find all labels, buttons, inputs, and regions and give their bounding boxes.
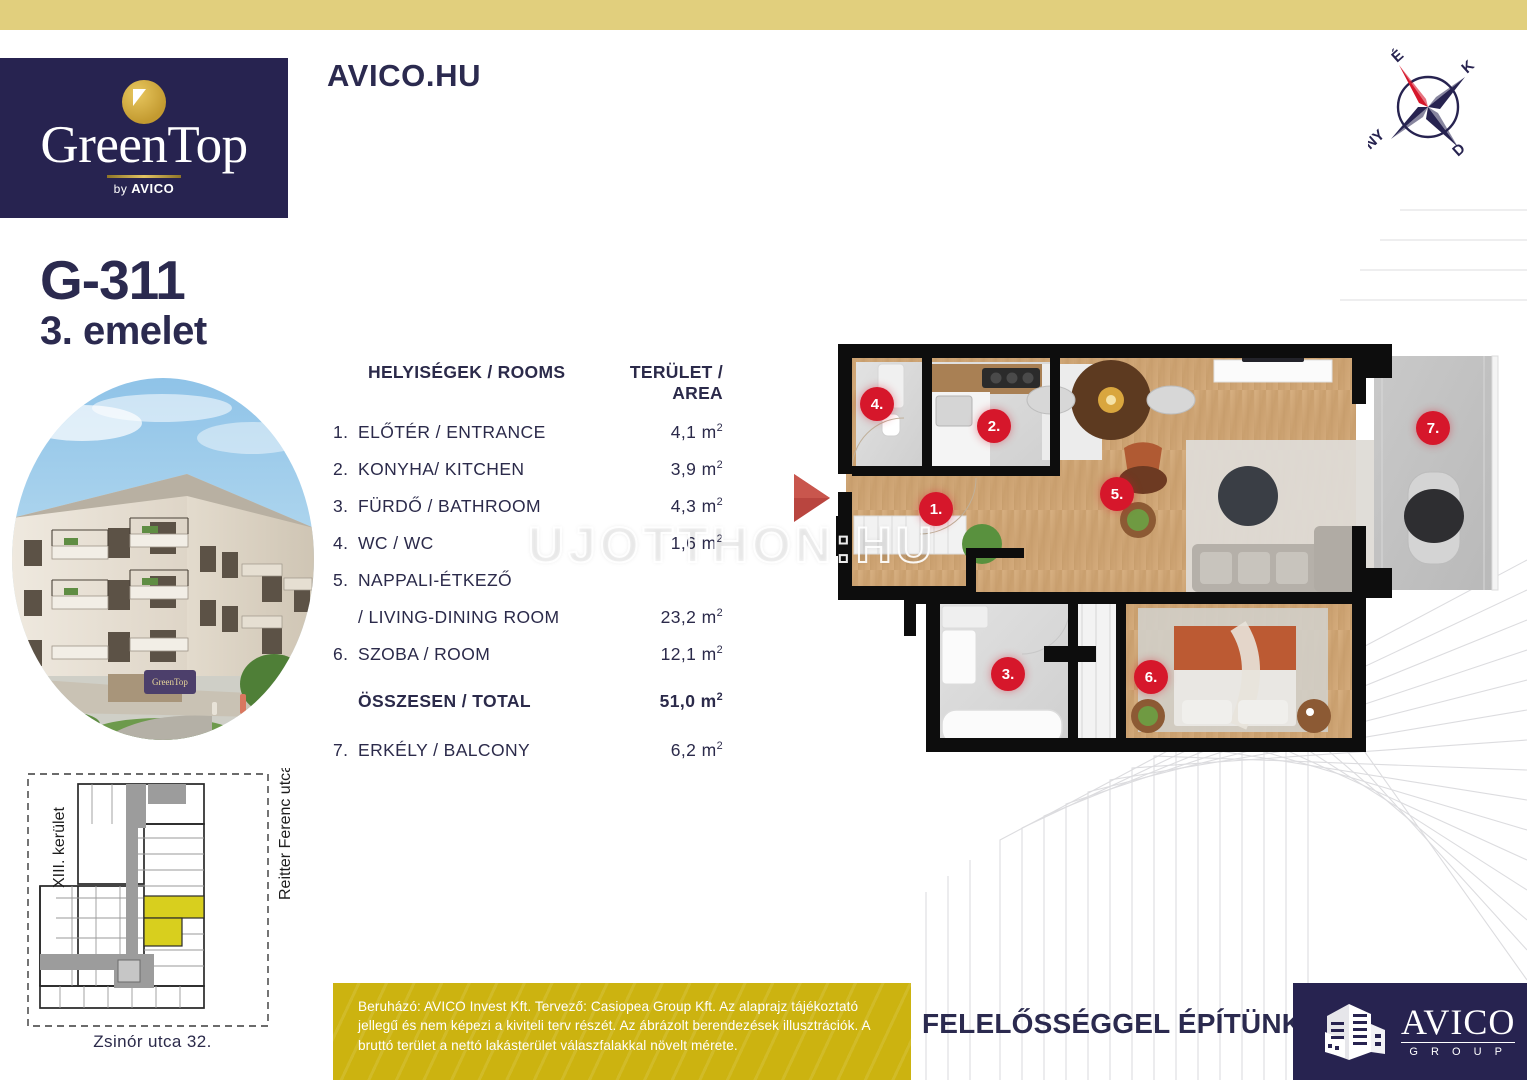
room-name: ELŐTÉR / ENTRANCE [358, 422, 598, 443]
keyplan-label-street-right: Reitter Ferenc utca [277, 768, 294, 900]
room-number: 1. [333, 422, 358, 443]
room-rows-container: 1.ELŐTÉR / ENTRANCE4,1 m22.KONYHA/ KITCH… [333, 422, 723, 665]
room-area: 23,2 m2 [598, 607, 723, 628]
greentop-logo-block: GreenTop by AVICO [0, 58, 288, 218]
table-row: 4.WC / WC1,6 m2 [333, 533, 723, 554]
entrance-direction-arrow [790, 470, 834, 526]
building-icon [1315, 1002, 1389, 1062]
svg-text:GreenTop: GreenTop [152, 677, 188, 687]
balcony-area: 6,2 m2 [598, 740, 723, 761]
unit-title: G-311 3. emelet [40, 253, 207, 354]
disclaimer-band: Beruházó: AVICO Invest Kft. Tervező: Cas… [333, 983, 911, 1080]
column-header-area: TERÜLET / AREA [598, 362, 723, 404]
room-marker-2: 2. [977, 409, 1011, 443]
compass-label-north: É [1388, 47, 1407, 66]
logo-byline: by AVICO [114, 181, 175, 196]
table-row: 6.SZOBA / ROOM12,1 m2 [333, 644, 723, 665]
room-marker-7: 7. [1416, 411, 1450, 445]
room-name: FÜRDŐ / BATHROOM [358, 496, 598, 517]
room-number: 4. [333, 533, 358, 554]
room-name: NAPPALI-ÉTKEZŐ [358, 570, 598, 591]
room-marker-4: 4. [860, 387, 894, 421]
compass-label-west: NY [1368, 126, 1388, 153]
compass-rose-icon: É K D NY [1368, 47, 1488, 162]
keyplan-label-district: XIII. kerület [51, 807, 68, 888]
unit-floor: 3. emelet [40, 308, 207, 354]
room-marker-6: 6. [1134, 660, 1168, 694]
balcony-number: 7. [333, 740, 358, 761]
site-key-plan: XIII. kerület Reitter Ferenc utca [20, 768, 308, 1058]
disclaimer-text: Beruházó: AVICO Invest Kft. Tervező: Cas… [333, 983, 911, 1055]
top-accent-bar [0, 0, 1527, 30]
table-row: 2.KONYHA/ KITCHEN3,9 m2 [333, 459, 723, 480]
avico-name: AVICO [1401, 1005, 1515, 1039]
room-schedule-table: HELYISÉGEK / ROOMS TERÜLET / AREA 1.ELŐT… [333, 362, 723, 777]
room-area: 4,1 m2 [598, 422, 723, 443]
company-slogan: FELELŐSSÉGGEL ÉPÍTÜNK [922, 1008, 1302, 1040]
avico-divider [1401, 1042, 1515, 1043]
total-area: 51,0 m2 [598, 691, 723, 712]
greentop-logo-icon [122, 80, 166, 124]
room-number: 5. [333, 570, 358, 591]
logo-divider [107, 175, 181, 178]
compass-label-east: K [1458, 57, 1478, 77]
room-area: 12,1 m2 [598, 644, 723, 665]
room-name: WC / WC [358, 533, 598, 554]
balcony-name: ERKÉLY / BALCONY [358, 740, 598, 761]
greentop-wordmark: GreenTop [40, 118, 247, 174]
room-name: SZOBA / ROOM [358, 644, 598, 665]
logo-company-text: AVICO [131, 181, 174, 196]
room-marker-5: 5. [1100, 477, 1134, 511]
room-number: 3. [333, 496, 358, 517]
room-number: 6. [333, 644, 358, 665]
building-render-photo: GreenTop [12, 378, 314, 740]
room-name: KONYHA/ KITCHEN [358, 459, 598, 480]
floorplan-drawing: 1. 2. 3. 4. 5. 6. 7. [786, 330, 1516, 770]
compass-label-south: D [1449, 140, 1469, 160]
site-title: AVICO.HU [327, 58, 481, 94]
avico-group-label: G R O U P [1409, 1046, 1507, 1058]
room-marker-1: 1. [919, 492, 953, 526]
room-name: / LIVING-DINING ROOM [358, 607, 598, 628]
logo-by-text: by [114, 182, 128, 196]
room-number: 2. [333, 459, 358, 480]
room-area: 3,9 m2 [598, 459, 723, 480]
table-row: 1.ELŐTÉR / ENTRANCE4,1 m2 [333, 422, 723, 443]
table-row: / LIVING-DINING ROOM23,2 m2 [333, 607, 723, 628]
room-area: 4,3 m2 [598, 496, 723, 517]
table-row: 5.NAPPALI-ÉTKEZŐ [333, 570, 723, 591]
total-label: ÖSSZESEN / TOTAL [358, 691, 598, 712]
unit-code: G-311 [40, 253, 207, 308]
table-header-row: HELYISÉGEK / ROOMS TERÜLET / AREA [333, 362, 723, 404]
column-header-rooms: HELYISÉGEK / ROOMS [333, 362, 598, 404]
table-row-balcony: 7. ERKÉLY / BALCONY 6,2 m2 [333, 740, 723, 761]
keyplan-caption: Zsinór utca 32. [20, 1032, 285, 1052]
room-marker-3: 3. [991, 657, 1025, 691]
table-row-total: ÖSSZESEN / TOTAL 51,0 m2 [333, 691, 723, 712]
avico-group-logo: AVICO G R O U P [1293, 983, 1527, 1080]
table-row: 3.FÜRDŐ / BATHROOM4,3 m2 [333, 496, 723, 517]
avico-wordmark: AVICO G R O U P [1401, 1005, 1515, 1058]
room-area: 1,6 m2 [598, 533, 723, 554]
